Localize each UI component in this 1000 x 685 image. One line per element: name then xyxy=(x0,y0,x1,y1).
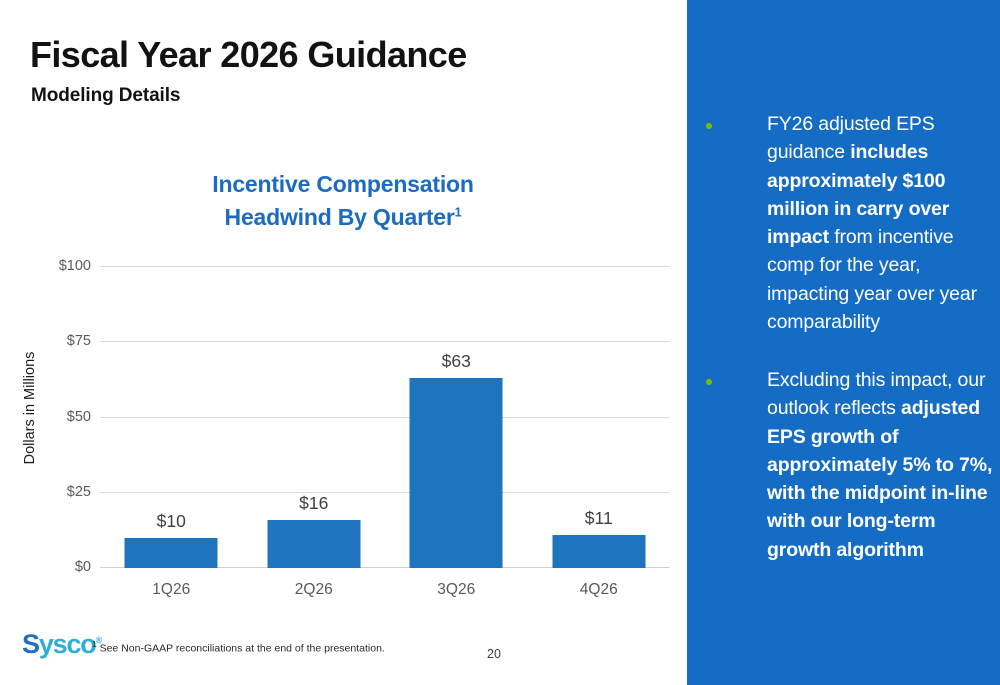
y-axis-label: Dollars in Millions xyxy=(22,318,38,498)
page-subtitle: Modeling Details xyxy=(31,86,180,107)
page-title: Fiscal Year 2026 Guidance xyxy=(30,36,467,74)
bar-group: $162Q26 xyxy=(243,267,386,568)
chart-title-footnote-marker: 1 xyxy=(455,205,462,219)
y-axis-tick-label: $100 xyxy=(59,258,91,274)
bar-chart: Incentive Compensation Headwind By Quart… xyxy=(0,150,686,620)
x-axis-category-label: 2Q26 xyxy=(295,581,333,599)
bar-value-label: $10 xyxy=(157,511,186,532)
sysco-logo: Sysco® xyxy=(22,631,102,658)
chart-title-line-2: Headwind By Quarter xyxy=(225,204,455,230)
bullet-text-emphasis: adjusted EPS growth of approximately 5% … xyxy=(767,397,992,560)
chart-title-line-1: Incentive Compensation xyxy=(212,171,473,197)
bar-group: $633Q26 xyxy=(385,267,528,568)
bullet-dot-icon xyxy=(706,123,712,129)
bar-value-label: $11 xyxy=(585,508,613,529)
page-number: 20 xyxy=(487,647,501,661)
bar-value-label: $16 xyxy=(299,493,328,514)
x-axis-category-label: 4Q26 xyxy=(580,581,618,599)
logo-letter-s: S xyxy=(22,629,39,659)
bullet-item: Excluding this impact, our outlook refle… xyxy=(705,366,995,564)
bar-group: $101Q26 xyxy=(100,267,243,568)
logo-letters-ysco: ysco xyxy=(39,629,96,659)
bar[interactable] xyxy=(267,520,360,568)
x-axis-category-label: 3Q26 xyxy=(437,581,475,599)
footnote: 1 See Non-GAAP reconciliations at the en… xyxy=(92,639,385,655)
y-axis-tick-label: $0 xyxy=(75,559,91,575)
y-axis-tick-label: $25 xyxy=(67,484,91,500)
footnote-text: See Non-GAAP reconciliations at the end … xyxy=(100,643,385,655)
side-panel: FY26 adjusted EPS guidance includes appr… xyxy=(687,0,1000,685)
bar[interactable] xyxy=(552,535,645,568)
bar-value-label: $63 xyxy=(442,351,471,372)
bar-group: $114Q26 xyxy=(528,267,671,568)
chart-title: Incentive Compensation Headwind By Quart… xyxy=(0,168,686,233)
bullet-dot-icon xyxy=(706,379,712,385)
bullet-item: FY26 adjusted EPS guidance includes appr… xyxy=(705,110,995,336)
bullet-list: FY26 adjusted EPS guidance includes appr… xyxy=(705,110,995,594)
slide: Fiscal Year 2026 Guidance Modeling Detai… xyxy=(0,0,1000,685)
plot-area: $0$25$50$75$100 $101Q26$162Q26$633Q26$11… xyxy=(100,267,670,568)
bar[interactable] xyxy=(125,538,218,568)
y-axis-tick-label: $50 xyxy=(67,409,91,425)
bar-series: $101Q26$162Q26$633Q26$114Q26 xyxy=(100,267,670,568)
y-axis-tick-label: $75 xyxy=(67,333,91,349)
x-axis-category-label: 1Q26 xyxy=(152,581,190,599)
bar[interactable] xyxy=(410,378,503,568)
footnote-marker: 1 xyxy=(92,639,97,649)
